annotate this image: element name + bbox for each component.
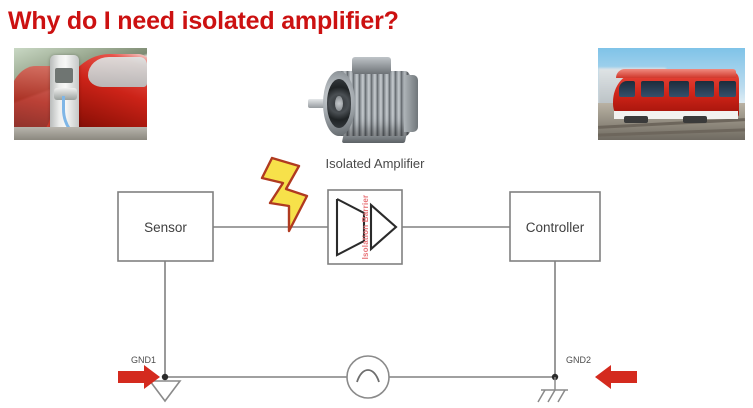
gnd1-junction-dot (162, 374, 168, 380)
signal-ground-triangle-icon (150, 381, 180, 401)
isolation-block-diagram: Sensor Controller Isolated Amplifier Iso… (0, 0, 753, 408)
slide-canvas: Why do I need isolated amplifier? (0, 0, 753, 408)
ac-voltage-source-symbol (347, 356, 389, 398)
gnd2-label: GND2 (566, 355, 591, 365)
gnd2-pointer-arrow-icon (595, 365, 637, 389)
sensor-block: Sensor (118, 192, 213, 261)
controller-label: Controller (526, 220, 585, 235)
controller-block: Controller (510, 192, 600, 261)
sensor-label: Sensor (144, 220, 187, 235)
chassis-ground-icon (538, 377, 568, 402)
lightning-bolt-icon (262, 158, 307, 231)
isolated-amplifier-block: Isolated Amplifier Isolation Barrier (326, 156, 426, 264)
isolated-amplifier-caption: Isolated Amplifier (326, 156, 426, 171)
gnd1-group: GND1 (118, 355, 180, 401)
gnd2-group: GND2 (538, 355, 637, 402)
ac-source-circle (347, 356, 389, 398)
isolation-barrier-label: Isolation Barrier (361, 195, 370, 260)
gnd1-label: GND1 (131, 355, 156, 365)
